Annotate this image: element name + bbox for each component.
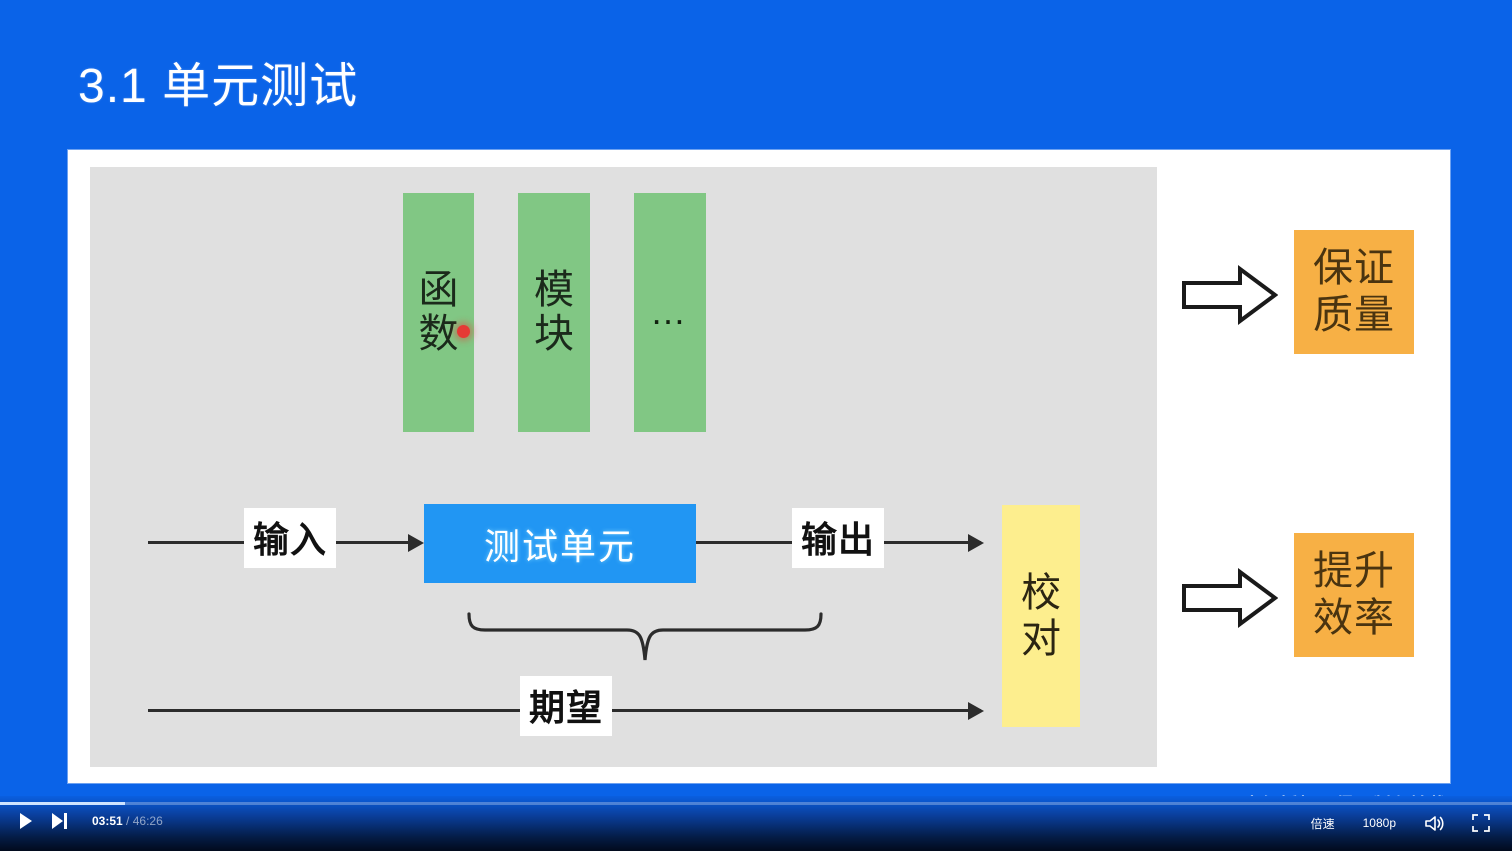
- test-unit-box: 测试单元: [424, 504, 696, 583]
- verify-box: 校 对: [1002, 505, 1080, 727]
- player-right-controls: 倍速 1080p: [1311, 814, 1490, 832]
- video-player-controls: 03:51 / 46:26 倍速 1080p: [0, 796, 1512, 851]
- expected-arrow-head: [968, 702, 984, 720]
- diagram-panel: 函数 模块 … 输入 测试单元: [90, 167, 1157, 767]
- time-display: 03:51 / 46:26: [92, 814, 163, 828]
- next-track-icon[interactable]: [51, 812, 68, 830]
- unit-box-more: …: [634, 193, 706, 432]
- input-flow-label: 输入: [244, 508, 336, 568]
- unit-box-function-label: 函数: [403, 269, 474, 355]
- expected-flow-label: 期望: [520, 676, 612, 736]
- verify-label-line2: 对: [1021, 616, 1061, 662]
- progress-bar-fill: [0, 802, 125, 805]
- slide-title: 3.1 单元测试: [78, 46, 358, 116]
- total-time: 46:26: [133, 814, 163, 828]
- outcome-box-quality: 保证 质量: [1294, 230, 1414, 354]
- test-unit-label: 测试单元: [484, 518, 636, 570]
- quality-button[interactable]: 1080p: [1363, 816, 1396, 830]
- play-icon[interactable]: [18, 812, 34, 830]
- playback-speed-button[interactable]: 倍速: [1311, 815, 1335, 832]
- outcome-efficiency-line1: 提升: [1313, 548, 1395, 595]
- outcome-quality-line2: 质量: [1313, 292, 1395, 339]
- unit-box-function: 函数: [403, 193, 474, 432]
- outcome-efficiency-line2: 效率: [1313, 595, 1395, 642]
- unit-box-module: 模块: [518, 193, 590, 432]
- verify-label-line1: 校: [1021, 570, 1061, 616]
- output-arrow-head: [968, 534, 984, 552]
- volume-icon[interactable]: [1424, 815, 1444, 832]
- fullscreen-icon[interactable]: [1472, 814, 1490, 832]
- outcome-box-efficiency: 提升 效率: [1294, 533, 1414, 657]
- grouping-brace-icon: [465, 610, 825, 668]
- unit-box-more-label: …: [650, 293, 690, 332]
- progress-bar-track[interactable]: [0, 802, 1512, 805]
- laser-pointer-dot: [457, 325, 470, 338]
- presentation-slide: 3.1 单元测试 函数 模块 … 输入: [0, 0, 1512, 851]
- input-arrow-head: [408, 534, 424, 552]
- outcome-arrow-quality-icon: [1182, 265, 1278, 325]
- outcome-arrow-efficiency-icon: [1182, 568, 1278, 628]
- unit-box-module-label: 模块: [518, 269, 590, 355]
- player-left-controls: 03:51 / 46:26: [18, 812, 163, 830]
- slide-content-card: 函数 模块 … 输入 测试单元: [68, 150, 1450, 783]
- output-flow-label: 输出: [792, 508, 884, 568]
- outcome-quality-line1: 保证: [1313, 245, 1395, 292]
- current-time: 03:51: [92, 814, 123, 828]
- time-separator: /: [126, 814, 129, 828]
